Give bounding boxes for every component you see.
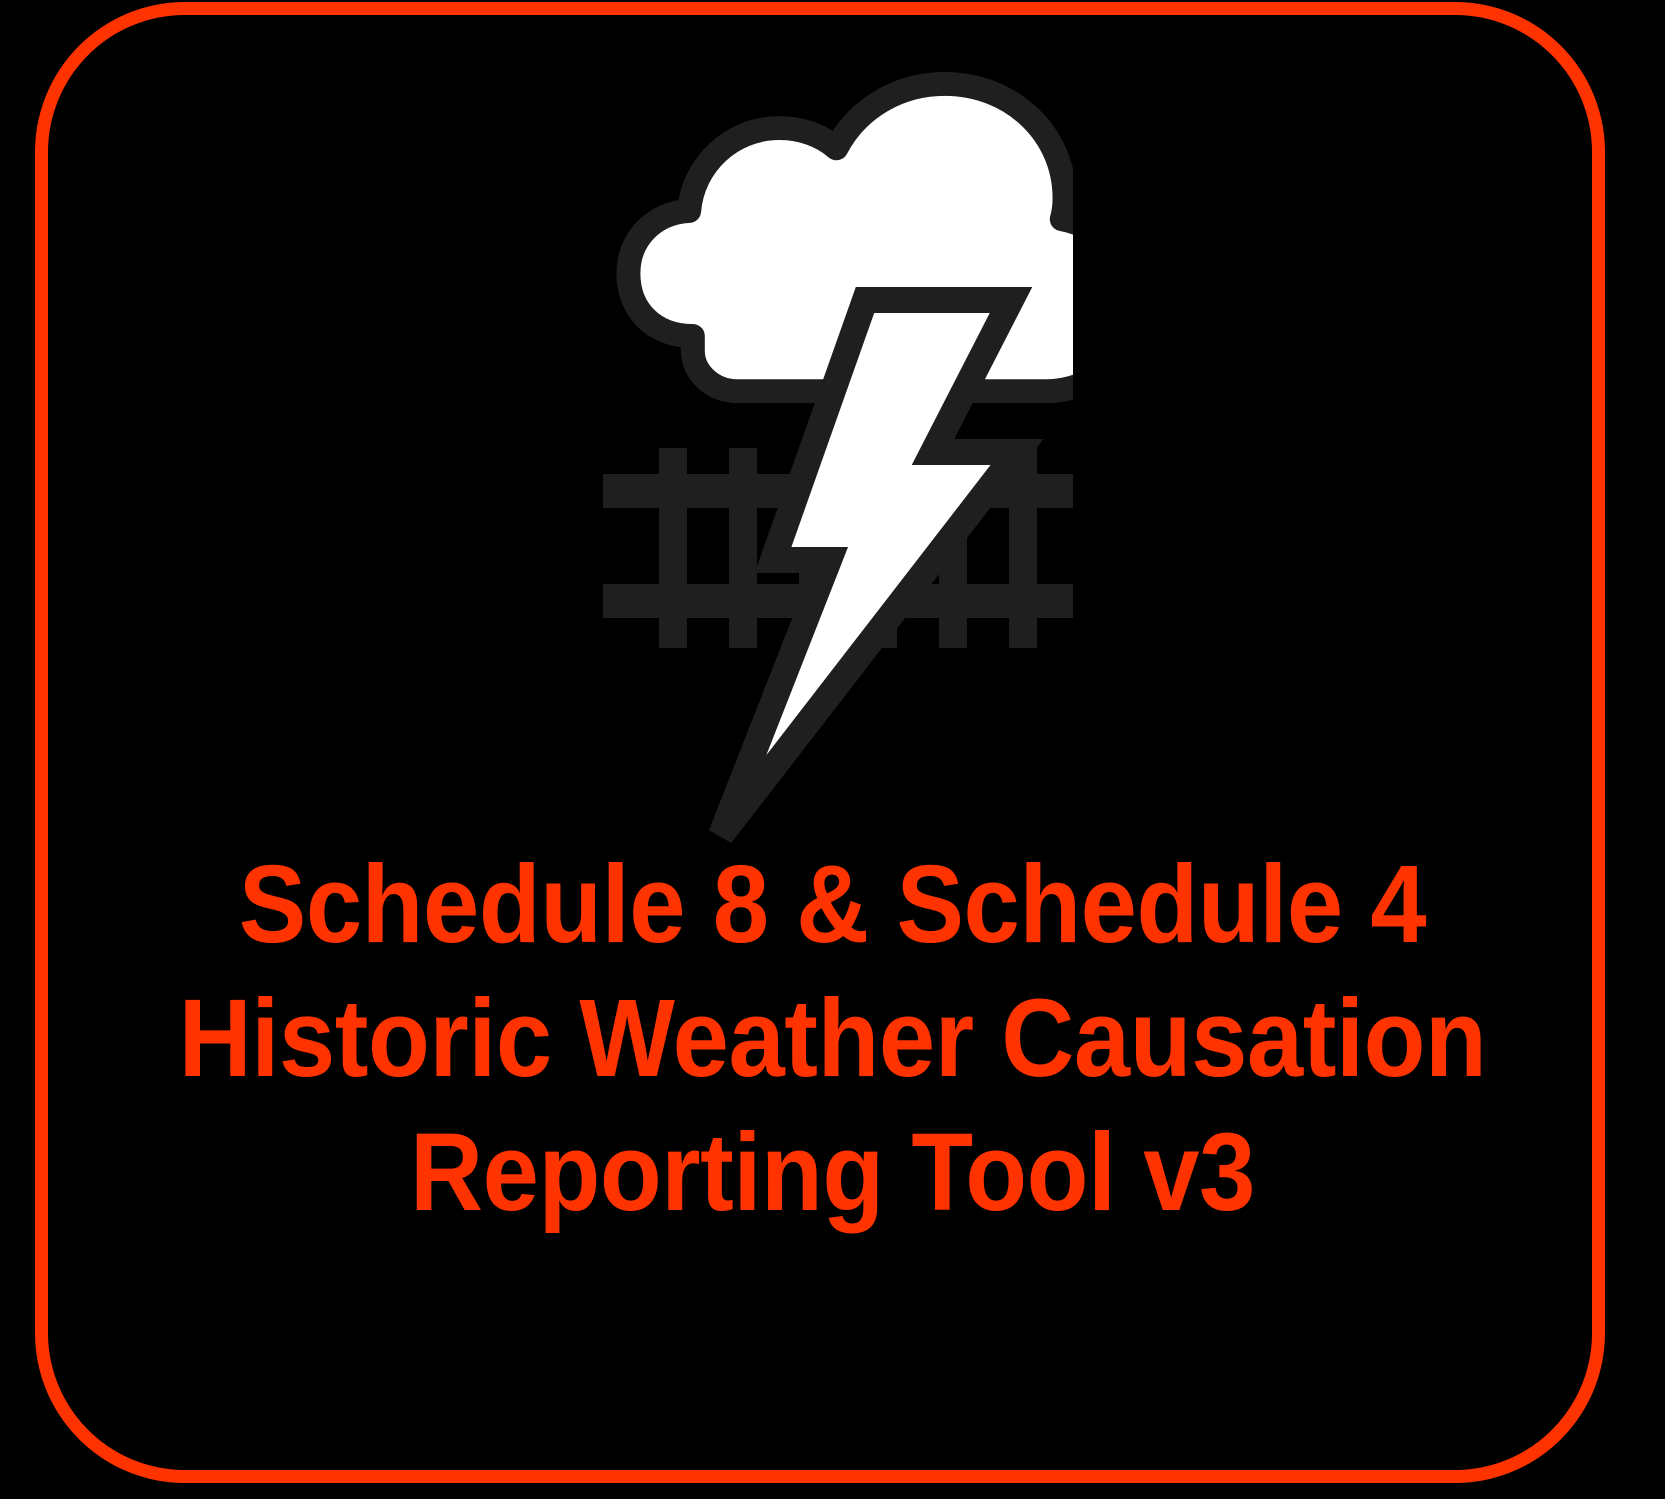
title-line-2: Historic Weather Causation <box>122 972 1543 1106</box>
title-line-1: Schedule 8 & Schedule 4 <box>122 838 1543 972</box>
storm-cloud-lightning-railway-track-icon <box>593 60 1073 860</box>
app-icon-container <box>0 60 1665 860</box>
app-title: Schedule 8 & Schedule 4 Historic Weather… <box>60 838 1605 1240</box>
app-tile[interactable]: Schedule 8 & Schedule 4 Historic Weather… <box>0 0 1665 1499</box>
title-line-3: Reporting Tool v3 <box>122 1106 1543 1240</box>
